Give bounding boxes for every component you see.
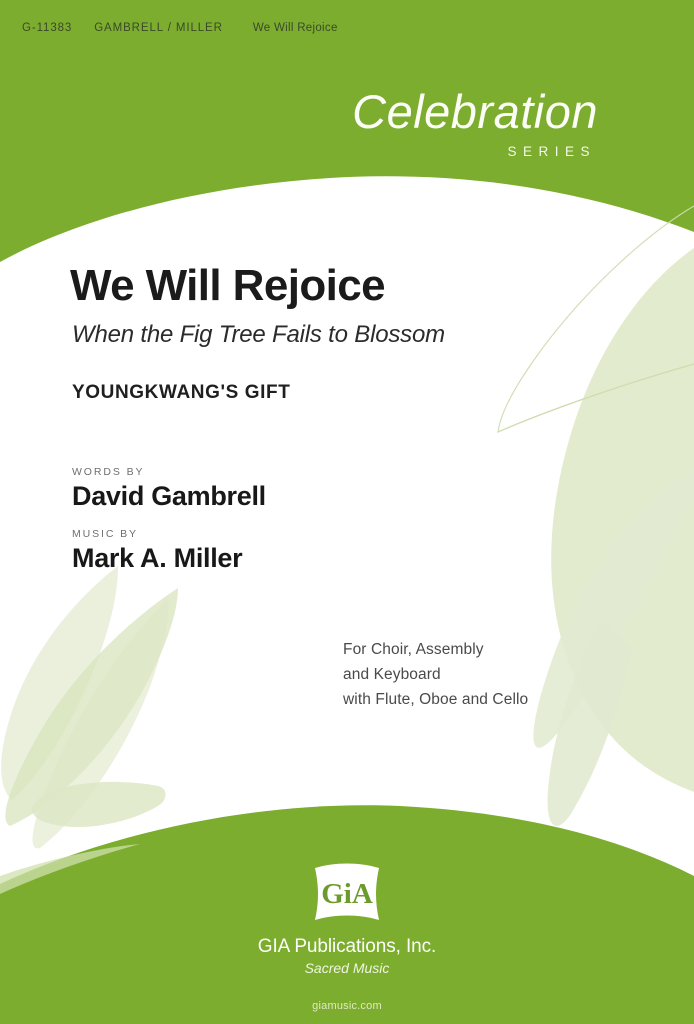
credit-music-label: MUSIC BY — [72, 528, 266, 540]
work-subtitle: When the Fig Tree Fails to Blossom — [72, 321, 630, 349]
instrumentation-line-1: For Choir, Assembly — [343, 637, 528, 662]
sheet-music-cover: G-11383 GAMBRELL / MILLER We Will Rejoic… — [0, 0, 694, 1024]
publisher-block: GiA GIA Publications, Inc. Sacred Music … — [0, 862, 694, 1012]
series-subtitle: SERIES — [352, 144, 598, 159]
series-name: Celebration — [352, 88, 598, 135]
credit-words-name: David Gambrell — [72, 482, 266, 512]
publisher-tagline: Sacred Music — [0, 960, 694, 976]
header-composers: GAMBRELL / MILLER — [94, 22, 223, 34]
instrumentation-block: For Choir, Assembly and Keyboard with Fl… — [343, 637, 528, 712]
series-branding: Celebration SERIES — [352, 88, 598, 159]
title-block: We Will Rejoice When the Fig Tree Fails … — [70, 263, 630, 404]
gia-logo: GiA — [305, 862, 389, 924]
catalog-number: G-11383 — [22, 22, 72, 34]
header-short-title: We Will Rejoice — [253, 22, 338, 34]
credit-words: WORDS BY David Gambrell — [72, 466, 266, 512]
publisher-name: GIA Publications, Inc. — [0, 936, 694, 958]
instrumentation-line-2: and Keyboard — [343, 662, 528, 687]
header-catalog-line: G-11383 GAMBRELL / MILLER We Will Rejoic… — [22, 22, 338, 34]
publisher-url: giamusic.com — [0, 1000, 694, 1012]
gia-logo-text: GiA — [321, 878, 373, 910]
credit-music: MUSIC BY Mark A. Miller — [72, 528, 266, 574]
instrumentation-line-3: with Flute, Oboe and Cello — [343, 687, 528, 712]
tune-name: YOUNGKWANG'S GIFT — [72, 382, 630, 404]
credit-music-name: Mark A. Miller — [72, 544, 266, 574]
credit-words-label: WORDS BY — [72, 466, 266, 478]
work-title: We Will Rejoice — [70, 263, 630, 309]
credits-block: WORDS BY David Gambrell MUSIC BY Mark A.… — [72, 466, 266, 589]
gia-logo-icon: GiA — [305, 862, 389, 924]
